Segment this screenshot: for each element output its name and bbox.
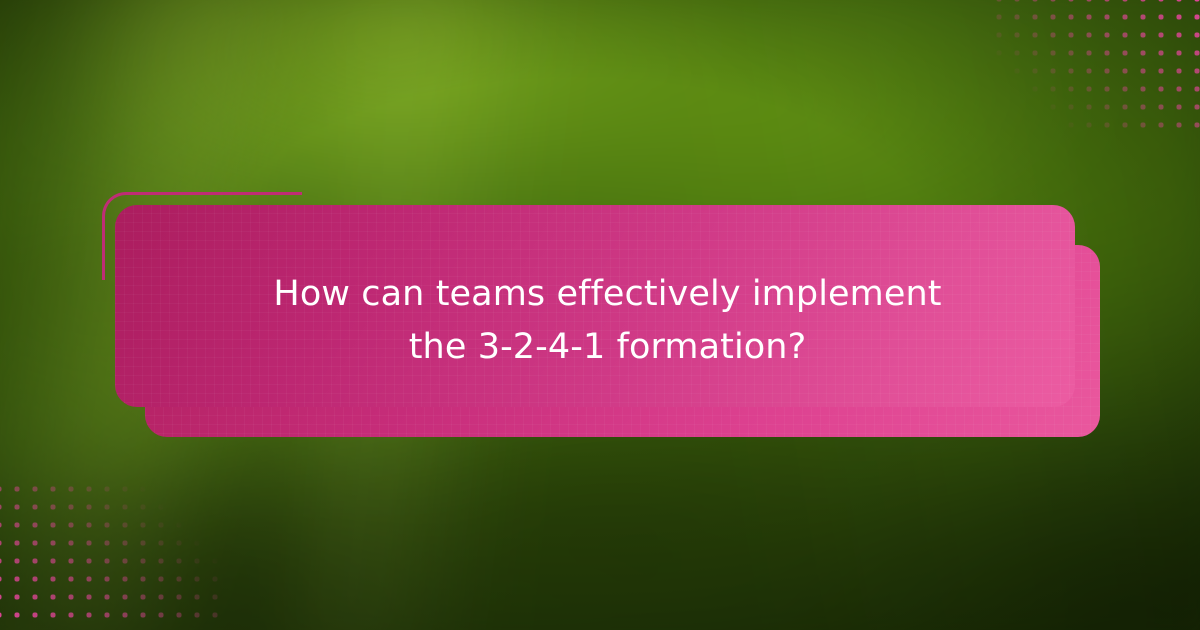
question-headline: How can teams effectively implement the … — [248, 268, 968, 374]
headline-container: How can teams effectively implement the … — [115, 205, 1100, 437]
background-stage: How can teams effectively implement the … — [0, 0, 1200, 630]
